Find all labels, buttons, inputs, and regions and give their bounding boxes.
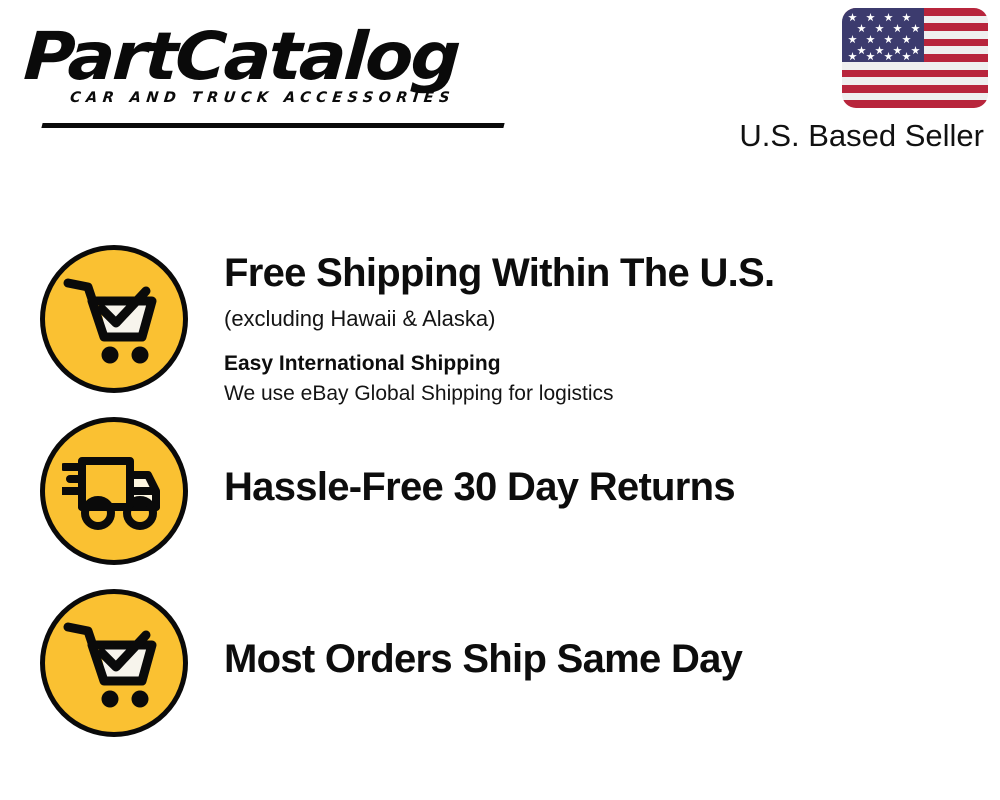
banner-header: PartCatalog CAR AND TRUCK ACCESSORIES — [0, 0, 1000, 180]
feature-row: Free Shipping Within The U.S. (excluding… — [40, 245, 970, 409]
flag-canton — [842, 8, 924, 62]
feature-text: Hassle-Free 30 Day Returns — [188, 417, 970, 511]
feature-row: Hassle-Free 30 Day Returns — [40, 417, 970, 565]
feature-note-title: Easy International Shipping — [224, 349, 970, 379]
feature-title: Free Shipping Within The U.S. — [224, 249, 970, 297]
delivery-truck-icon — [40, 417, 188, 565]
feature-text: Free Shipping Within The U.S. (excluding… — [188, 245, 970, 409]
us-flag-icon — [842, 8, 988, 108]
seller-policy-banner: PartCatalog CAR AND TRUCK ACCESSORIES — [0, 0, 1000, 800]
brand-tagline: CAR AND TRUCK ACCESSORIES — [69, 90, 495, 106]
brand-logo: PartCatalog CAR AND TRUCK ACCESSORIES — [24, 20, 494, 120]
shopping-cart-check-icon — [40, 589, 188, 737]
feature-text: Most Orders Ship Same Day — [188, 589, 970, 683]
flag-stripe — [842, 85, 988, 93]
shopping-cart-check-icon — [40, 245, 188, 393]
flag-stripe — [842, 77, 988, 85]
feature-title: Hassle-Free 30 Day Returns — [224, 463, 970, 511]
flag-stripe — [842, 100, 988, 108]
brand-wordmark: PartCatalog — [22, 20, 524, 94]
flag-stripe — [842, 93, 988, 101]
flag-stripe — [842, 70, 988, 78]
flag-stripe — [842, 62, 988, 70]
us-based-seller-label: U.S. Based Seller — [708, 117, 984, 155]
brand-underline-rule — [41, 123, 504, 128]
us-based-seller-badge: U.S. Based Seller — [708, 8, 988, 155]
feature-note-body: We use eBay Global Shipping for logistic… — [224, 379, 970, 409]
feature-row: Most Orders Ship Same Day — [40, 589, 970, 737]
feature-title: Most Orders Ship Same Day — [224, 635, 970, 683]
feature-subtitle: (excluding Hawaii & Alaska) — [224, 303, 970, 335]
